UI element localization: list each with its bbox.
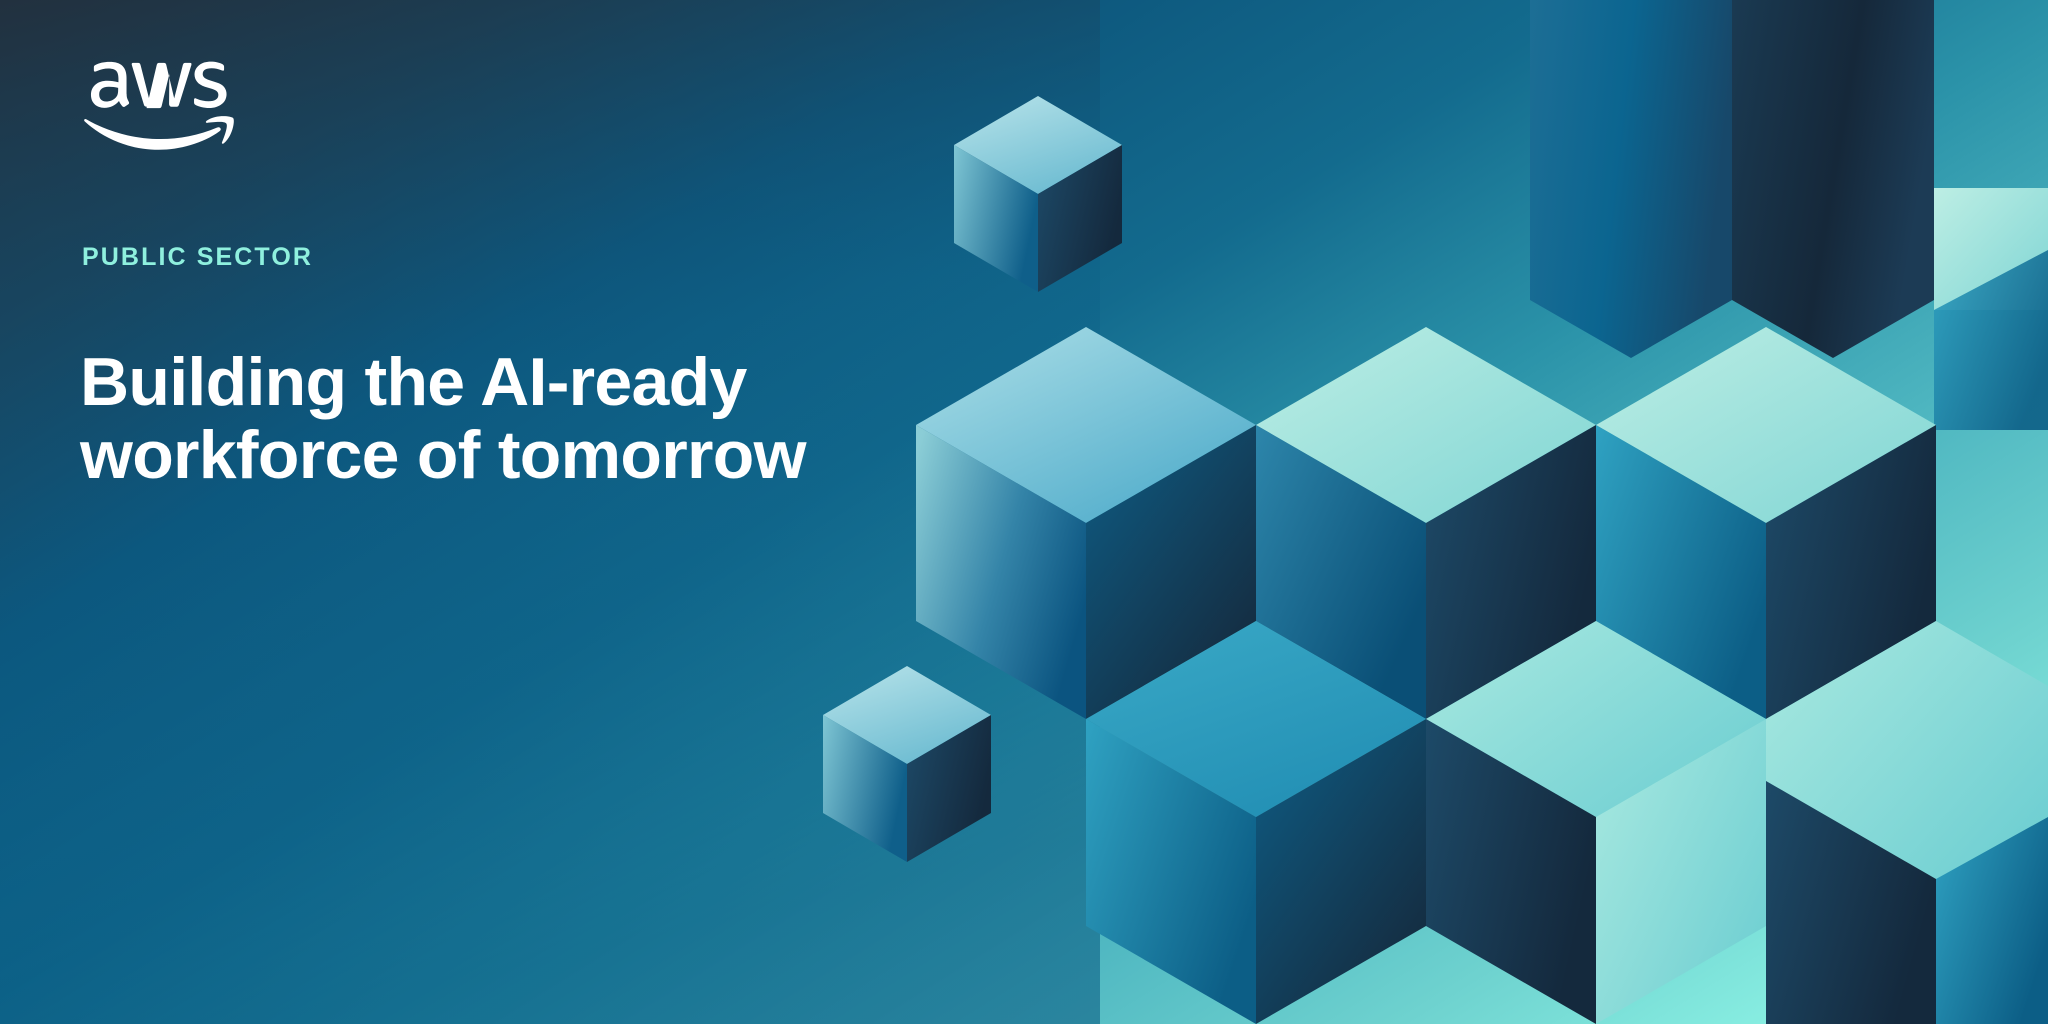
headline-line-1: Building the AI-ready: [80, 346, 980, 419]
cube-small-top: [954, 96, 1122, 292]
eyebrow-label: PUBLIC SECTOR: [82, 245, 313, 270]
headline-line-2: workforce of tomorrow: [80, 419, 980, 492]
pillar-tall-left: [1530, 0, 1732, 358]
page-title: Building the AI-ready workforce of tomor…: [80, 346, 980, 493]
aws-marketing-banner: PUBLIC SECTOR Building the AI-ready work…: [0, 0, 2048, 1024]
isometric-cube-scene: [0, 0, 2048, 1024]
aws-logo[interactable]: [84, 58, 234, 154]
cube-small-bottom: [823, 666, 991, 862]
